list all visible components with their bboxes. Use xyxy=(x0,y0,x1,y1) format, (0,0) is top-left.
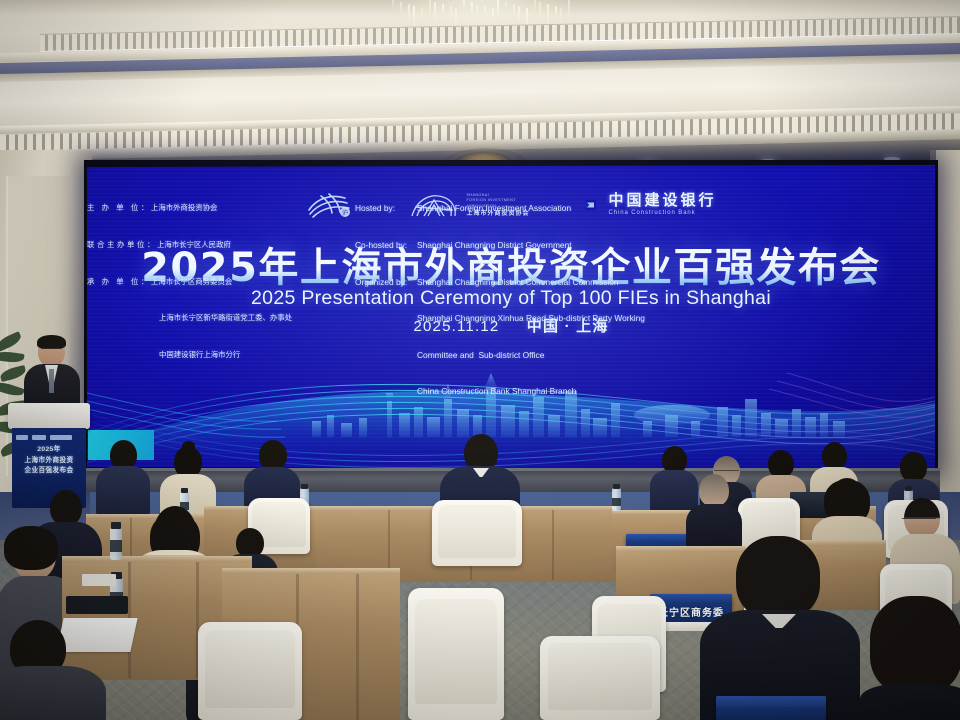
speaker-hair xyxy=(37,335,66,349)
chandelier-crystal xyxy=(421,8,423,22)
chandelier-crystal xyxy=(518,6,520,26)
attendee-body xyxy=(860,684,960,720)
podium-title-text: 2025年 上海市外商投资 企业百强发布会 xyxy=(12,445,86,477)
attendee xyxy=(856,600,960,720)
organizer-line: Committee and Sub-district Office xyxy=(355,349,645,361)
placard-foreground xyxy=(716,696,826,720)
attendee-head xyxy=(699,474,729,507)
bottle-cap xyxy=(613,484,620,489)
table-top-edge xyxy=(222,568,400,574)
speaker-glasses xyxy=(41,348,62,353)
chair-back-inset xyxy=(415,599,498,705)
organizer-line: Organized by:Shanghai Changning District… xyxy=(355,276,645,288)
table-drape-fold xyxy=(552,510,554,580)
bottle-cap xyxy=(181,488,188,493)
organizer-line: Shanghai Changning Xinhua Road Sub-distr… xyxy=(355,312,645,324)
chandelier-crystal xyxy=(505,2,507,12)
attendee-body xyxy=(0,666,106,720)
organizer-line: 承 办 单 位：上海市长宁区商务委员会 xyxy=(87,276,292,288)
podium-swoosh-logo xyxy=(16,435,28,440)
attendee-hair xyxy=(736,536,820,620)
table-drape-fold xyxy=(356,574,359,720)
chandelier-crystal xyxy=(400,2,402,17)
chandelier-crystal xyxy=(442,4,444,17)
organizer-line: 主 办 单 位：上海市外商投资协会 xyxy=(87,202,292,214)
chandelier-crystal xyxy=(539,2,541,21)
attendee-head xyxy=(50,490,82,526)
organizer-line: 联合主办单位：上海市长宁区人民政府 xyxy=(87,239,292,251)
chandelier-crystal xyxy=(471,2,473,19)
attendee-hair xyxy=(870,596,960,694)
bottle-label xyxy=(110,540,122,552)
podium-ccb-logo xyxy=(50,435,72,440)
attendee xyxy=(96,440,150,514)
podium-top-surface xyxy=(8,403,90,429)
placard-logo-bar xyxy=(716,696,826,707)
attendee-glasses xyxy=(902,518,936,525)
bottle-cap xyxy=(905,486,912,491)
chandelier-crystal xyxy=(476,4,478,26)
chair xyxy=(432,500,522,566)
document-tray xyxy=(82,574,116,586)
speaker-necktie xyxy=(49,369,54,393)
organizer-line: 中国建设银行上海市分行 xyxy=(87,349,292,361)
chair xyxy=(540,636,660,720)
attendee xyxy=(0,620,106,720)
table-top-edge xyxy=(62,556,252,562)
attendee-hair xyxy=(4,526,58,570)
podium-line-2: 上海市外商投资 xyxy=(12,456,86,467)
attendee-hair-bun xyxy=(182,441,195,451)
chandelier-crystal xyxy=(408,4,410,24)
organizer-line: Hosted by:Shanghai Foreign Investment As… xyxy=(355,202,645,214)
placard-logo-bar xyxy=(626,534,692,541)
attendee-head xyxy=(768,450,794,478)
chair xyxy=(198,622,302,720)
chandelier-crystal xyxy=(434,2,436,26)
attendee-head xyxy=(900,452,927,482)
bottle-label xyxy=(612,498,621,506)
chandelier-crystal xyxy=(463,0,465,12)
chandelier-crystal xyxy=(492,8,494,24)
podium-logo-row xyxy=(16,433,82,441)
bottle-cap xyxy=(301,484,308,489)
podium-sfia-logo xyxy=(32,435,46,440)
attendee xyxy=(700,540,860,720)
chandelier-crystal xyxy=(513,4,515,19)
podium-line-1: 2025年 xyxy=(12,445,86,456)
chandelier-crystal xyxy=(497,0,499,21)
chandelier-crystal xyxy=(429,0,431,19)
svg-text:沪: 沪 xyxy=(342,209,348,217)
conference-hall-photo: 沪 SHANGHAI FOREIGN INVESTME xyxy=(0,0,960,720)
organizers-chinese-block: 主 办 单 位：上海市外商投资协会 联合主办单位：上海市长宁区人民政府 承 办 … xyxy=(87,178,292,385)
podium-line-3: 企业百强发布会 xyxy=(12,466,86,477)
chair-back-inset xyxy=(548,643,651,710)
chandelier-crystal xyxy=(568,0,570,23)
organizers-english-block: Hosted by:Shanghai Foreign Investment As… xyxy=(355,178,645,422)
chair-back-inset xyxy=(205,630,294,708)
chair-back-inset xyxy=(438,505,515,558)
chair xyxy=(408,588,504,720)
chandelier-crystal xyxy=(450,6,452,24)
organizer-line: China Construction Bank Shanghai Branch xyxy=(355,385,645,397)
document-tray xyxy=(66,596,128,614)
chandelier-crystal xyxy=(534,0,536,14)
chandelier-crystal xyxy=(484,6,486,17)
organizer-line: 上海市长宁区新华路街道党工委、办事处 xyxy=(87,312,292,324)
bottle-cap xyxy=(111,522,121,529)
chandelier-crystal xyxy=(555,6,557,19)
organizer-line: Co-hosted by:Shanghai Changning District… xyxy=(355,239,645,251)
chandelier-crystal xyxy=(560,8,562,26)
chandelier-crystal xyxy=(392,0,394,10)
attendee-head xyxy=(822,442,847,470)
